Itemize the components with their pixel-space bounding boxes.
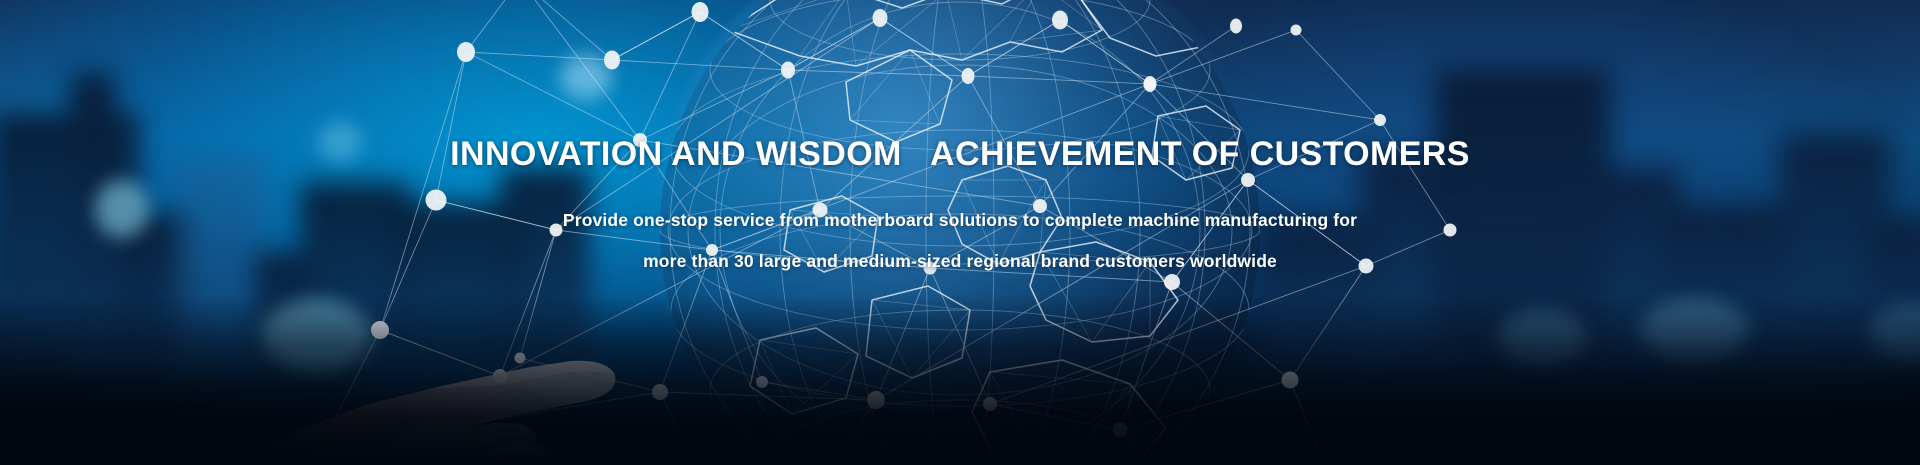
water-reflection: [0, 295, 1920, 465]
hero-banner: INNOVATION AND WISDOM ACHIEVEMENT OF CUS…: [0, 0, 1920, 465]
